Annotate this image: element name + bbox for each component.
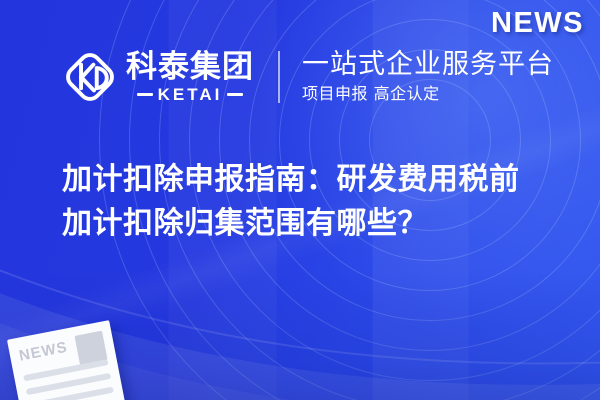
logotype-dash-left — [137, 93, 153, 96]
brand-logotype: 科泰集团 KETAI — [126, 50, 254, 105]
page-title: 加计扣除申报指南：研发费用税前 加计扣除归集范围有哪些？ — [62, 158, 562, 246]
page-title-line-2: 加计扣除归集范围有哪些？ — [62, 202, 562, 246]
slogan-block: 一站式企业服务平台 项目申报 高企认定 — [302, 49, 554, 105]
page-title-line-1: 加计扣除申报指南：研发费用税前 — [62, 158, 562, 202]
brand-name-cn: 科泰集团 — [126, 50, 254, 84]
brand-name-en-row: KETAI — [137, 85, 244, 105]
slogan-main: 一站式企业服务平台 — [302, 49, 554, 81]
header-divider — [278, 51, 280, 103]
slogan-sub: 项目申报 高企认定 — [302, 83, 554, 105]
brand-name-en: KETAI — [158, 85, 223, 105]
news-wordmark: NEWS — [491, 7, 584, 40]
logotype-dash-right — [227, 93, 243, 96]
ketai-monogram-logo-icon — [62, 49, 118, 105]
news-banner: NEWS 科泰集团 KETAI 一站式企业服务平台 项目申报 — [0, 0, 600, 400]
brand-header: 科泰集团 KETAI 一站式企业服务平台 项目申报 高企认定 — [62, 42, 554, 112]
